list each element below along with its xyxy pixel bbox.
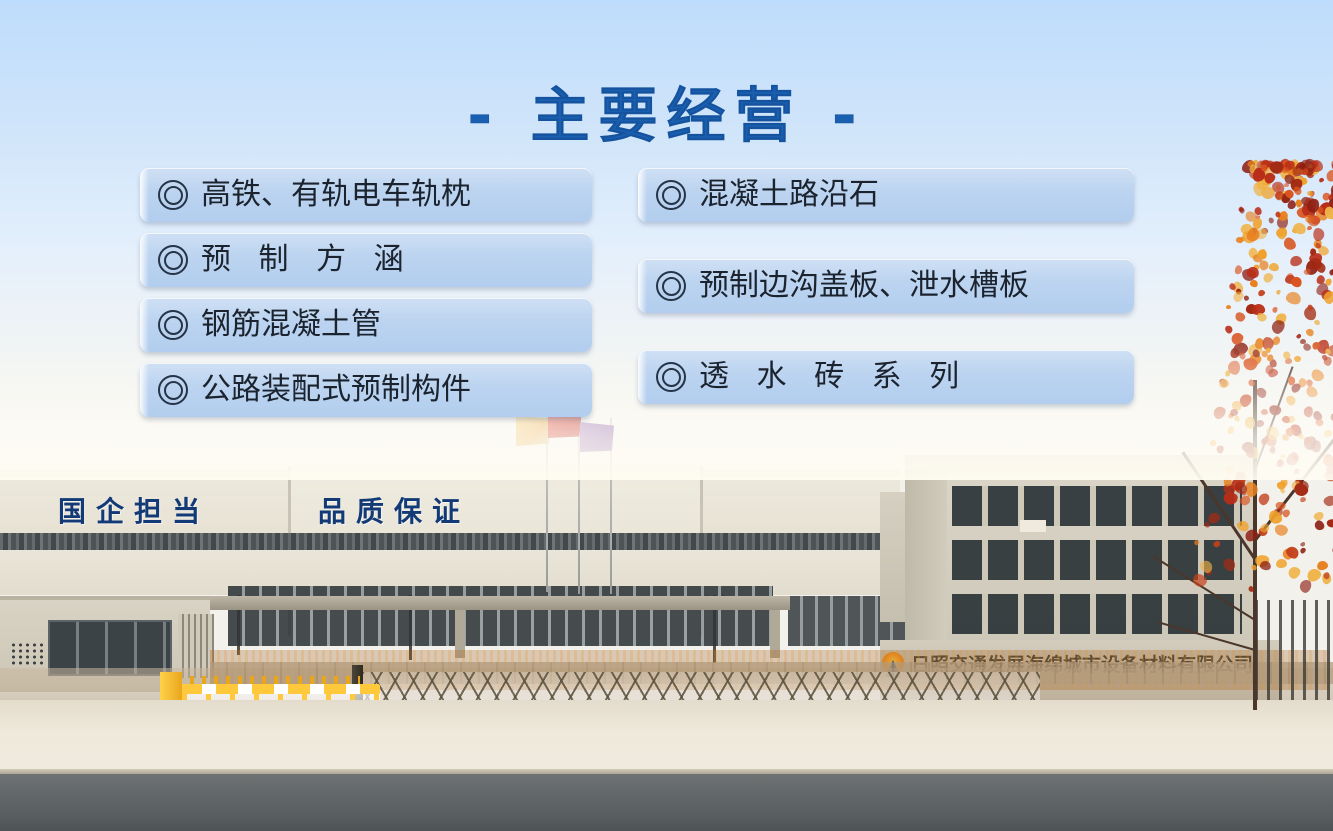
autumn-leaf — [1287, 168, 1297, 177]
autumn-leaf — [1312, 518, 1325, 532]
autumn-leaf — [1305, 198, 1319, 214]
autumn-leaf — [1283, 188, 1295, 200]
autumn-leaf — [1248, 164, 1258, 175]
autumn-leaf — [1301, 161, 1318, 178]
autumn-leaf — [1304, 213, 1316, 224]
autumn-leaf — [1306, 189, 1314, 197]
facade-sign-1: 国企担当 — [58, 490, 210, 530]
autumn-leaf — [1249, 279, 1259, 288]
autumn-leaf — [1292, 166, 1302, 177]
autumn-leaf — [1309, 215, 1322, 227]
autumn-leaf — [1327, 519, 1333, 528]
autumn-leaf — [1306, 260, 1319, 275]
autumn-leaf — [1252, 166, 1267, 183]
service-item-left-4[interactable]: 公路装配式预制构件 — [140, 363, 592, 417]
autumn-leaf — [1274, 509, 1283, 517]
autumn-leaf — [1317, 560, 1330, 571]
autumn-leaf — [1281, 159, 1292, 171]
autumn-leaf — [1329, 182, 1333, 199]
service-item-left-1[interactable]: 高铁、有轨电车轨枕 — [140, 168, 592, 222]
autumn-leaf — [1316, 206, 1329, 221]
autumn-leaf — [1282, 547, 1294, 560]
autumn-leaf — [1290, 177, 1301, 190]
service-label: 预 制 方 涵 — [201, 245, 413, 275]
autumn-leaf — [1242, 268, 1257, 281]
autumn-leaf — [1257, 492, 1272, 507]
hall-clerestory-windows — [0, 533, 900, 550]
autumn-leaf — [1235, 236, 1243, 244]
autumn-leaf — [1281, 193, 1290, 204]
bullet-circle-icon — [656, 180, 686, 210]
autumn-leaf — [1313, 228, 1324, 241]
autumn-leaf — [1291, 173, 1306, 186]
autumn-leaf — [1261, 186, 1276, 199]
autumn-leaf — [1262, 160, 1270, 170]
autumn-leaf — [1236, 288, 1242, 294]
autumn-leaf — [1324, 572, 1330, 579]
autumn-leaf — [1298, 578, 1312, 594]
autumn-leaf — [1311, 160, 1320, 170]
autumn-leaf — [1284, 544, 1301, 561]
service-item-left-2[interactable]: 预 制 方 涵 — [140, 233, 592, 287]
autumn-leaf — [1241, 229, 1258, 244]
office-wall-plate — [1020, 520, 1046, 532]
autumn-leaf — [1234, 264, 1243, 274]
bullet-circle-icon — [656, 362, 686, 392]
autumn-leaf — [1275, 184, 1282, 192]
autumn-leaf — [1261, 177, 1272, 187]
autumn-leaf — [1303, 305, 1317, 321]
autumn-leaf — [1255, 215, 1260, 220]
autumn-leaf — [1318, 177, 1324, 183]
autumn-leaf — [1296, 205, 1311, 219]
autumn-leaf — [1270, 162, 1285, 175]
autumn-leaf — [1296, 167, 1304, 174]
autumn-leaf — [1274, 312, 1289, 327]
autumn-leaf — [1254, 159, 1270, 175]
autumn-leaf — [1277, 481, 1287, 489]
autumn-leaf — [1277, 210, 1291, 224]
autumn-leaf — [1254, 174, 1273, 192]
autumn-leaf — [1244, 295, 1249, 301]
autumn-leaf — [1307, 257, 1323, 271]
entrance-canopy — [150, 596, 790, 610]
autumn-leaf — [1243, 210, 1257, 223]
autumn-leaf — [1226, 305, 1231, 310]
autumn-leaf — [1274, 523, 1289, 537]
autumn-leaf — [1284, 183, 1289, 188]
autumn-leaf — [1321, 191, 1330, 201]
autumn-leaf — [1243, 226, 1261, 245]
autumn-leaf — [1308, 252, 1323, 265]
autumn-leaf — [1282, 173, 1295, 185]
autumn-leaf — [1282, 159, 1296, 173]
autumn-leaf — [1310, 263, 1317, 271]
autumn-leaf — [1276, 163, 1284, 172]
autumn-leaf — [1290, 275, 1305, 289]
service-label: 预制边沟盖板、泄水槽板 — [699, 271, 1029, 301]
bullet-circle-icon — [158, 375, 188, 405]
autumn-leaf — [1268, 217, 1275, 225]
autumn-leaf — [1257, 249, 1267, 260]
parking-apron — [0, 700, 1333, 772]
autumn-leaf — [1291, 221, 1307, 236]
autumn-leaf — [1300, 177, 1308, 185]
autumn-leaf — [1259, 161, 1267, 170]
services-left-column: 高铁、有轨电车轨枕 预 制 方 涵 钢筋混凝土管 公路装配式预制构件 — [140, 168, 592, 428]
autumn-leaf — [1286, 199, 1297, 211]
autumn-leaf — [1257, 289, 1266, 298]
autumn-leaf — [1300, 195, 1314, 208]
autumn-leaf — [1313, 510, 1325, 521]
autumn-leaf — [1305, 566, 1323, 584]
autumn-leaf — [1275, 226, 1288, 240]
autumn-leaf — [1230, 281, 1244, 296]
autumn-leaf — [1322, 495, 1333, 508]
autumn-leaf — [1252, 181, 1268, 198]
guard-house-vent — [10, 642, 46, 666]
service-label: 钢筋混凝土管 — [201, 310, 381, 340]
autumn-leaf — [1324, 167, 1333, 183]
autumn-leaf — [1306, 170, 1315, 178]
autumn-leaf — [1239, 207, 1245, 214]
autumn-leaf — [1309, 160, 1323, 172]
autumn-leaf — [1315, 274, 1326, 286]
autumn-leaf — [1231, 289, 1245, 303]
autumn-leaf — [1305, 167, 1315, 177]
autumn-leaf — [1300, 202, 1318, 220]
autumn-leaf — [1289, 158, 1299, 169]
autumn-leaf — [1275, 501, 1285, 510]
autumn-leaf — [1328, 195, 1333, 202]
autumn-leaf — [1295, 199, 1302, 207]
autumn-leaf — [1292, 481, 1310, 498]
autumn-leaf — [1259, 260, 1269, 272]
autumn-leaf — [1319, 287, 1333, 301]
autumn-leaf — [1276, 191, 1284, 200]
autumn-leaf — [1281, 166, 1290, 175]
autumn-leaf — [1310, 248, 1317, 255]
autumn-leaf — [1262, 166, 1275, 180]
autumn-leaf — [1234, 312, 1247, 324]
autumn-leaf — [1240, 236, 1246, 242]
autumn-leaf — [1262, 171, 1277, 186]
autumn-leaf — [1296, 479, 1310, 492]
autumn-leaf — [1316, 200, 1333, 219]
bullet-circle-icon — [158, 310, 188, 340]
autumn-leaf — [1255, 555, 1269, 567]
autumn-leaf — [1239, 222, 1255, 237]
service-label: 公路装配式预制构件 — [201, 375, 471, 405]
autumn-leaf — [1302, 203, 1311, 211]
service-item-right-3[interactable]: 透 水 砖 系 列 — [638, 350, 1134, 404]
autumn-leaf — [1306, 304, 1313, 312]
autumn-leaf — [1276, 289, 1282, 296]
autumn-leaf — [1298, 162, 1307, 171]
autumn-leaf — [1255, 227, 1270, 242]
autumn-leaf — [1306, 225, 1312, 231]
poster-canvas: 国企担当 品质保证 日照交通发展海绵城市设备材料有限公司 — [0, 0, 1333, 831]
right-fence — [1255, 600, 1333, 705]
service-label: 高铁、有轨电车轨枕 — [201, 180, 471, 210]
barrier-arm — [180, 684, 380, 694]
autumn-leaf — [1261, 227, 1269, 234]
autumn-leaf — [1275, 559, 1287, 569]
autumn-leaf — [1313, 239, 1322, 250]
autumn-leaf — [1299, 541, 1306, 548]
autumn-leaf — [1299, 496, 1307, 503]
autumn-leaf — [1288, 173, 1307, 192]
autumn-leaf — [1251, 303, 1265, 316]
autumn-leaf — [1281, 235, 1298, 253]
autumn-leaf — [1328, 191, 1333, 204]
autumn-leaf — [1228, 282, 1237, 291]
autumn-leaf — [1248, 226, 1259, 237]
bullet-circle-icon — [158, 180, 188, 210]
autumn-leaf — [1276, 228, 1287, 238]
autumn-leaf — [1325, 278, 1333, 287]
autumn-leaf — [1281, 509, 1290, 519]
autumn-leaf — [1268, 262, 1279, 272]
bullet-circle-icon — [656, 271, 686, 301]
autumn-leaf — [1254, 207, 1263, 216]
hall-front-glazing — [228, 586, 773, 646]
autumn-leaf — [1327, 195, 1333, 211]
autumn-leaf — [1276, 215, 1289, 230]
autumn-leaf — [1269, 161, 1284, 174]
autumn-leaf — [1314, 242, 1322, 250]
office-window-row-3 — [952, 486, 1242, 526]
services-right-column: 混凝土路沿石 预制边沟盖板、泄水槽板 透 水 砖 系 列 — [638, 168, 1134, 404]
autumn-leaf — [1237, 205, 1244, 212]
autumn-leaf — [1266, 508, 1285, 527]
autumn-leaf — [1303, 268, 1312, 276]
autumn-leaf — [1288, 176, 1304, 193]
autumn-leaf — [1274, 162, 1281, 169]
service-item-right-1[interactable]: 混凝土路沿石 — [638, 168, 1134, 222]
autumn-leaf — [1277, 158, 1291, 172]
autumn-leaf — [1314, 261, 1328, 276]
autumn-leaf — [1317, 244, 1331, 258]
autumn-leaf — [1307, 164, 1320, 175]
autumn-leaf — [1247, 159, 1255, 168]
autumn-leaf — [1321, 573, 1332, 585]
autumn-leaf — [1304, 159, 1317, 174]
service-label: 透 水 砖 系 列 — [699, 362, 968, 392]
autumn-leaf — [1309, 190, 1316, 198]
autumn-leaf — [1317, 206, 1325, 214]
autumn-leaf — [1306, 214, 1321, 228]
service-item-right-2[interactable]: 预制边沟盖板、泄水槽板 — [638, 259, 1134, 313]
autumn-leaf — [1265, 159, 1276, 171]
autumn-leaf — [1256, 312, 1268, 323]
autumn-leaf — [1253, 254, 1263, 263]
autumn-leaf — [1252, 217, 1264, 230]
autumn-leaf — [1313, 318, 1321, 326]
autumn-leaf — [1251, 159, 1259, 167]
autumn-leaf — [1307, 163, 1314, 170]
autumn-leaf — [1322, 205, 1333, 222]
autumn-leaf — [1261, 270, 1275, 284]
autumn-leaf — [1300, 167, 1309, 175]
autumn-leaf — [1303, 197, 1316, 212]
autumn-leaf — [1286, 564, 1302, 580]
office-window-row-2 — [952, 540, 1242, 580]
autumn-leaf — [1245, 303, 1257, 313]
office-window-row-1 — [952, 594, 1242, 634]
autumn-leaf — [1284, 271, 1296, 283]
service-label: 混凝土路沿石 — [699, 180, 879, 210]
autumn-leaf — [1278, 158, 1292, 174]
autumn-leaf — [1259, 560, 1271, 571]
autumn-leaf — [1285, 166, 1299, 180]
autumn-leaf — [1259, 522, 1272, 534]
autumn-leaf — [1291, 228, 1298, 234]
service-item-left-3[interactable]: 钢筋混凝土管 — [140, 298, 592, 352]
autumn-leaf — [1271, 306, 1278, 314]
autumn-leaf — [1298, 157, 1317, 175]
autumn-leaf — [1285, 290, 1303, 306]
autumn-leaf — [1274, 191, 1285, 201]
autumn-leaf — [1270, 179, 1287, 196]
autumn-leaf — [1291, 185, 1302, 196]
autumn-leaf — [1240, 158, 1258, 176]
autumn-leaf — [1314, 281, 1331, 298]
facade-sign-2: 品质保证 — [318, 490, 470, 530]
autumn-leaf — [1290, 478, 1303, 491]
autumn-leaf — [1260, 179, 1267, 186]
autumn-leaf — [1311, 258, 1322, 270]
autumn-leaf — [1260, 170, 1270, 180]
autumn-leaf — [1257, 527, 1268, 537]
autumn-leaf — [1260, 158, 1273, 171]
autumn-leaf — [1329, 268, 1333, 275]
autumn-leaf — [1250, 167, 1256, 173]
autumn-leaf — [1322, 289, 1333, 305]
autumn-leaf — [1261, 164, 1268, 172]
autumn-leaf — [1289, 255, 1303, 268]
autumn-leaf — [1274, 211, 1281, 218]
autumn-leaf — [1279, 167, 1292, 181]
autumn-leaf — [1277, 189, 1292, 204]
office-side-wall — [905, 470, 947, 660]
autumn-leaf — [1279, 488, 1286, 495]
bullet-circle-icon — [158, 245, 188, 275]
autumn-leaf — [1247, 247, 1259, 260]
autumn-leaf — [1299, 546, 1307, 554]
autumn-leaf — [1293, 161, 1308, 178]
autumn-leaf — [1284, 274, 1296, 284]
autumn-leaf — [1254, 265, 1260, 271]
asphalt-road — [0, 774, 1333, 831]
autumn-leaf — [1245, 266, 1259, 279]
autumn-leaf — [1247, 166, 1264, 182]
autumn-leaf — [1289, 160, 1299, 169]
